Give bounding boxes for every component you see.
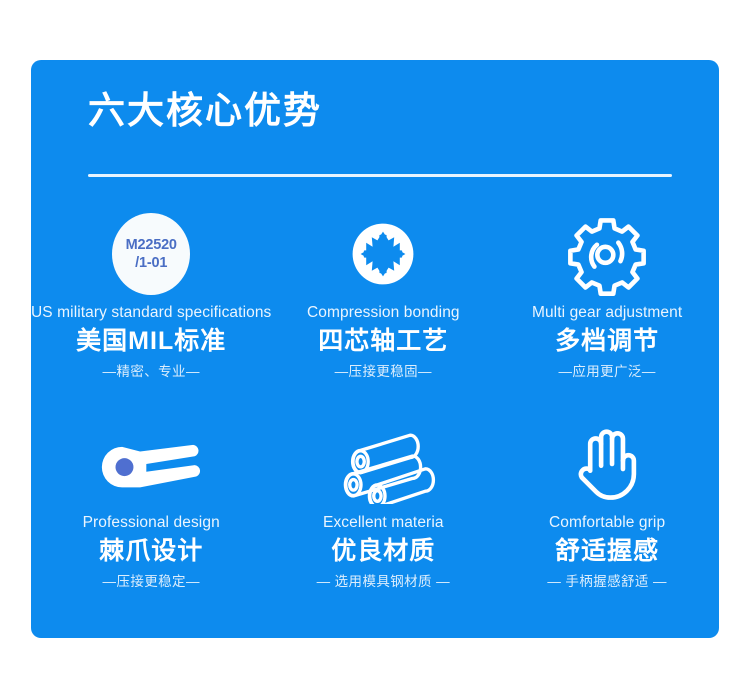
features-grid: M22520 /1-01 US military standard specif… [31, 210, 719, 630]
feature-label-sub: — 手柄握感舒适 — [547, 575, 667, 590]
feature-label-sub: —应用更广泛— [558, 365, 655, 380]
feature-label-cn: 优良材质 [331, 538, 435, 566]
steel-tubes-icon [321, 420, 445, 508]
feature-item-compression-bonding: Compression bonding 四芯轴工艺 —压接更稳固— [271, 210, 495, 420]
page-title: 六大核心优势 [88, 92, 322, 129]
feature-label-cn: 多档调节 [555, 328, 659, 356]
feature-label-en: Excellent materia [323, 514, 444, 531]
feature-label-en: Compression bonding [307, 304, 460, 321]
feature-label-en: Comfortable grip [549, 514, 665, 531]
title-divider [88, 174, 672, 177]
open-hand-icon [569, 420, 645, 508]
feature-label-sub: —压接更稳固— [335, 365, 432, 380]
feature-label-en: US military standard specifications [31, 304, 271, 321]
feature-item-comfortable-grip: Comfortable grip 舒适握感 — 手柄握感舒适 — [495, 420, 719, 630]
crimping-plier-icon [96, 420, 206, 508]
feature-item-excellent-material: Excellent materia 优良材质 — 选用模具钢材质 — [271, 420, 495, 630]
gear-adjust-icon [565, 210, 649, 298]
badge-line1: M22520 [126, 236, 177, 254]
feature-item-professional-design: Professional design 棘爪设计 —压接更稳定— [31, 420, 271, 630]
feature-label-en: Professional design [83, 514, 220, 531]
feature-label-sub: —压接更稳定— [103, 575, 200, 590]
feature-label-sub: —精密、专业— [103, 365, 200, 380]
feature-label-cn: 舒适握感 [555, 538, 659, 566]
feature-item-mil-standard: M22520 /1-01 US military standard specif… [31, 210, 271, 420]
feature-label-sub: — 选用模具钢材质 — [317, 575, 450, 590]
promo-page: 六大核心优势 M22520 /1-01 US military standard… [0, 0, 750, 686]
badge-line2: /1-01 [135, 254, 167, 272]
feature-label-cn: 美国MIL标准 [76, 328, 226, 356]
m22520-badge-icon: M22520 /1-01 [112, 210, 190, 298]
pozidriv-screw-icon [343, 210, 423, 298]
feature-label-cn: 四芯轴工艺 [318, 328, 448, 356]
advantages-panel: 六大核心优势 M22520 /1-01 US military standard… [31, 60, 719, 638]
feature-item-multi-gear: Multi gear adjustment 多档调节 —应用更广泛— [495, 210, 719, 420]
feature-label-cn: 棘爪设计 [99, 538, 203, 566]
feature-label-en: Multi gear adjustment [532, 304, 682, 321]
